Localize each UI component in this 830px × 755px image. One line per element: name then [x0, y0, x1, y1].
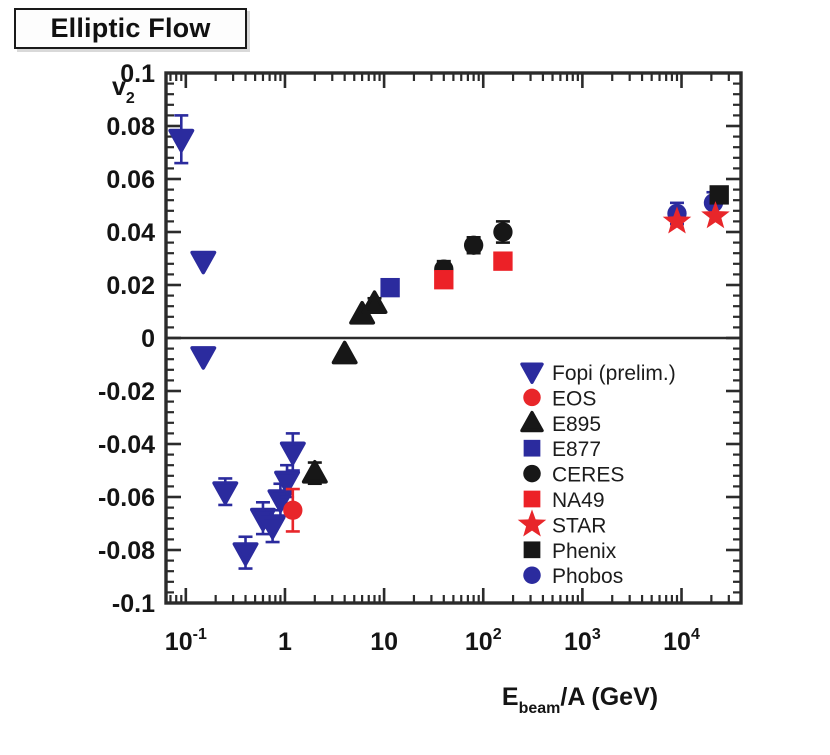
- data-point-marker: [282, 443, 304, 463]
- data-point-marker: [304, 462, 326, 482]
- legend-entry-label: Phobos: [552, 565, 623, 588]
- data-point-marker: [522, 364, 542, 382]
- series-e895: [304, 292, 386, 484]
- data-point-marker: [493, 251, 512, 270]
- legend-entry-label: STAR: [552, 514, 606, 537]
- x-tick-label: 10-1: [165, 626, 207, 656]
- data-point-marker: [523, 465, 540, 482]
- y-tick-label: 0: [141, 325, 155, 353]
- data-point-marker: [334, 343, 356, 363]
- y-tick-label: -0.06: [98, 484, 155, 512]
- data-point-marker: [380, 278, 399, 297]
- y-tick-label: -0.02: [98, 378, 155, 406]
- data-point-marker: [710, 185, 729, 204]
- legend-entry-label: Phenix: [552, 540, 617, 563]
- y-tick-label: 0.06: [106, 166, 155, 194]
- x-tick-label: 1: [278, 628, 292, 656]
- legend-entry-label: E877: [552, 438, 601, 461]
- data-point-marker: [518, 509, 547, 536]
- data-point-marker: [524, 440, 541, 457]
- y-tick-label: -0.08: [98, 537, 155, 565]
- data-point-marker: [434, 270, 453, 289]
- data-point-marker: [524, 491, 541, 508]
- data-point-marker: [214, 483, 236, 503]
- data-point-marker: [192, 253, 214, 273]
- data-point-marker: [283, 501, 302, 520]
- data-point-marker: [493, 222, 512, 241]
- series-e877: [380, 278, 399, 297]
- x-tick-label: 10: [370, 628, 398, 656]
- y-tick-label: 0.04: [106, 219, 155, 247]
- data-point-marker: [524, 541, 541, 558]
- y-tick-label: 0.08: [106, 113, 155, 141]
- x-tick-label: 103: [564, 626, 601, 656]
- legend-entry-label: CERES: [552, 464, 624, 487]
- elliptic-flow-chart: 10-11101021031040.10.080.060.040.020-0.0…: [0, 0, 830, 755]
- data-point-marker: [523, 566, 540, 583]
- x-axis-label: Ebeam/A (GeV): [502, 683, 658, 717]
- data-point-marker: [234, 544, 256, 564]
- data-point-marker: [464, 236, 483, 255]
- series-phenix: [710, 185, 729, 204]
- legend-entry-label: EOS: [552, 387, 596, 410]
- y-tick-label: 0.02: [106, 272, 155, 300]
- data-point-marker: [523, 389, 540, 406]
- series-na49: [434, 251, 513, 289]
- data-point-marker: [192, 348, 214, 368]
- chart-legend: Fopi (prelim.)EOSE895E877CERESNA49STARPh…: [518, 362, 676, 588]
- legend-entry-label: Fopi (prelim.): [552, 362, 676, 385]
- x-tick-label: 102: [465, 626, 502, 656]
- series-fopi-prelim: [170, 115, 304, 568]
- legend-entry-label: E895: [552, 413, 601, 436]
- data-point-marker: [522, 413, 542, 431]
- y-tick-label: -0.1: [112, 590, 155, 618]
- y-tick-label: -0.04: [98, 431, 155, 459]
- x-tick-label: 104: [663, 626, 700, 656]
- legend-entry-label: NA49: [552, 489, 605, 512]
- data-point-marker: [663, 206, 692, 233]
